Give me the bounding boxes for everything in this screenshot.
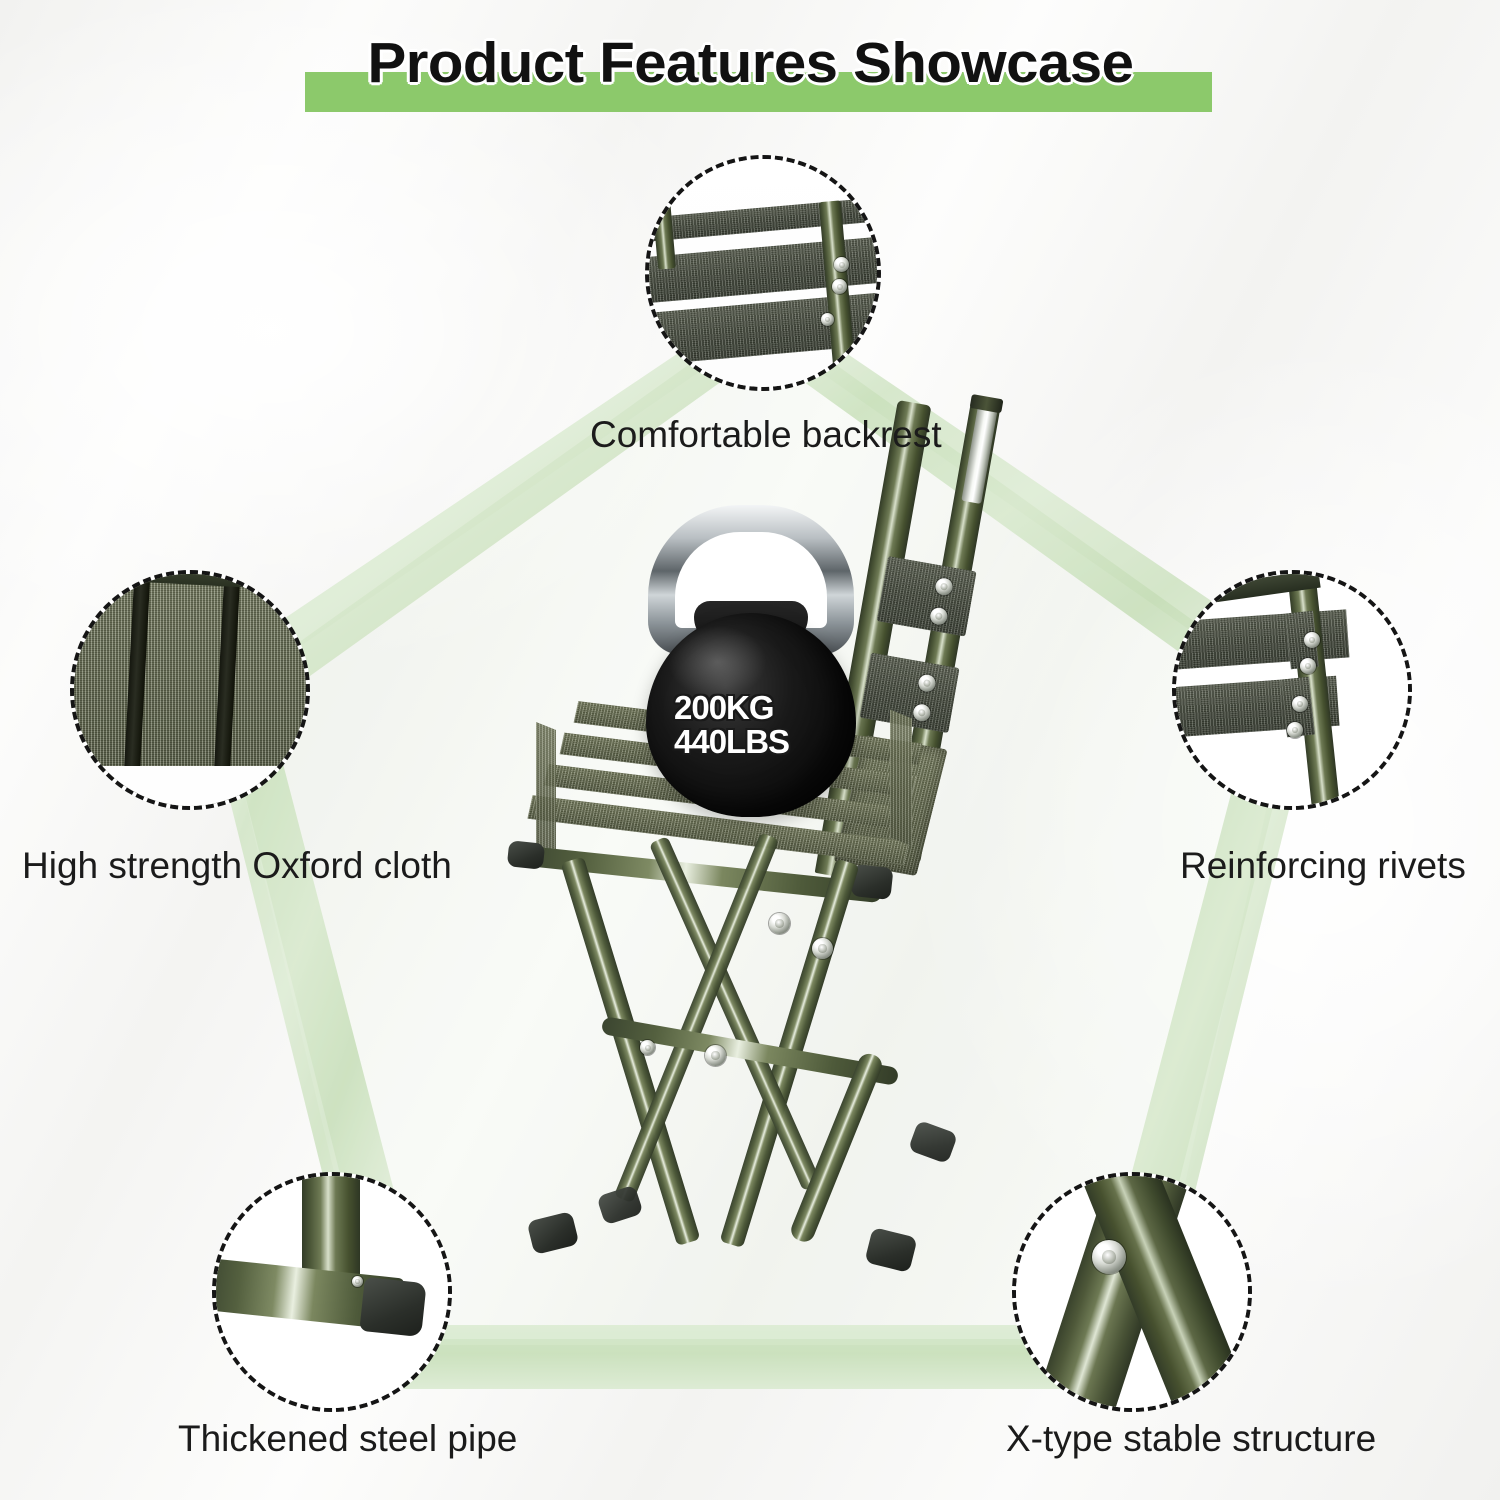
kettlebell-icon: 200KG 440LBS — [628, 505, 874, 817]
callout-x-structure-label: X-type stable structure — [1006, 1418, 1376, 1460]
seat-cross-strap — [536, 722, 556, 856]
rivet-icon — [1287, 722, 1303, 738]
rivet-icon — [1300, 658, 1316, 674]
rivet-icon — [1292, 696, 1308, 712]
callout-x-structure-circle[interactable] — [1012, 1172, 1252, 1412]
callout-oxford-label: High strength Oxford cloth — [22, 845, 452, 887]
pivot-rivet-icon — [769, 913, 790, 934]
seat-cross-strap — [890, 710, 912, 847]
backrest-strap-upper — [877, 556, 977, 637]
oxford-bottom-white — [70, 766, 310, 810]
rivet-icon — [821, 313, 834, 326]
rivet-icon — [832, 279, 847, 294]
callout-steel-pipe-circle[interactable] — [212, 1172, 452, 1412]
callout-rivets-circle[interactable] — [1172, 570, 1412, 810]
callout-backrest-circle[interactable] — [645, 155, 881, 391]
page-title: Product Features Showcase — [367, 34, 1133, 92]
callout-backrest-photo — [645, 155, 881, 391]
callout-steel-pipe-label: Thickened steel pipe — [178, 1418, 517, 1460]
callout-oxford-photo — [70, 570, 310, 810]
callout-x-structure-photo — [1012, 1172, 1252, 1412]
callout-rivets-label: Reinforcing rivets — [1180, 845, 1466, 887]
callout-steel-pipe-photo — [212, 1172, 452, 1412]
foot-cap-rear-left — [596, 1185, 643, 1226]
callout-rivets-photo — [1172, 570, 1412, 810]
rivet-icon — [834, 257, 849, 272]
pivot-rivet-icon — [705, 1045, 726, 1066]
pivot-rivet-icon — [640, 1040, 655, 1055]
pivot-bolt-icon — [1092, 1240, 1126, 1274]
weight-lbs: 440LBS — [674, 725, 854, 759]
foot-cap-front-left — [527, 1211, 580, 1255]
weight-badge: 200KG 440LBS — [674, 691, 854, 758]
pivot-rivet-icon — [812, 938, 833, 959]
seat-rail-cap-left — [507, 840, 546, 870]
rivet-icon — [352, 1276, 363, 1287]
rivet-icon — [1304, 632, 1320, 648]
callout-backrest-label: Comfortable backrest — [590, 414, 942, 456]
steel-pipe-foot-cap — [359, 1277, 426, 1337]
weight-kg: 200KG — [674, 691, 854, 725]
callout-oxford-circle[interactable] — [70, 570, 310, 810]
backrest-detail-bar-top — [650, 197, 881, 241]
